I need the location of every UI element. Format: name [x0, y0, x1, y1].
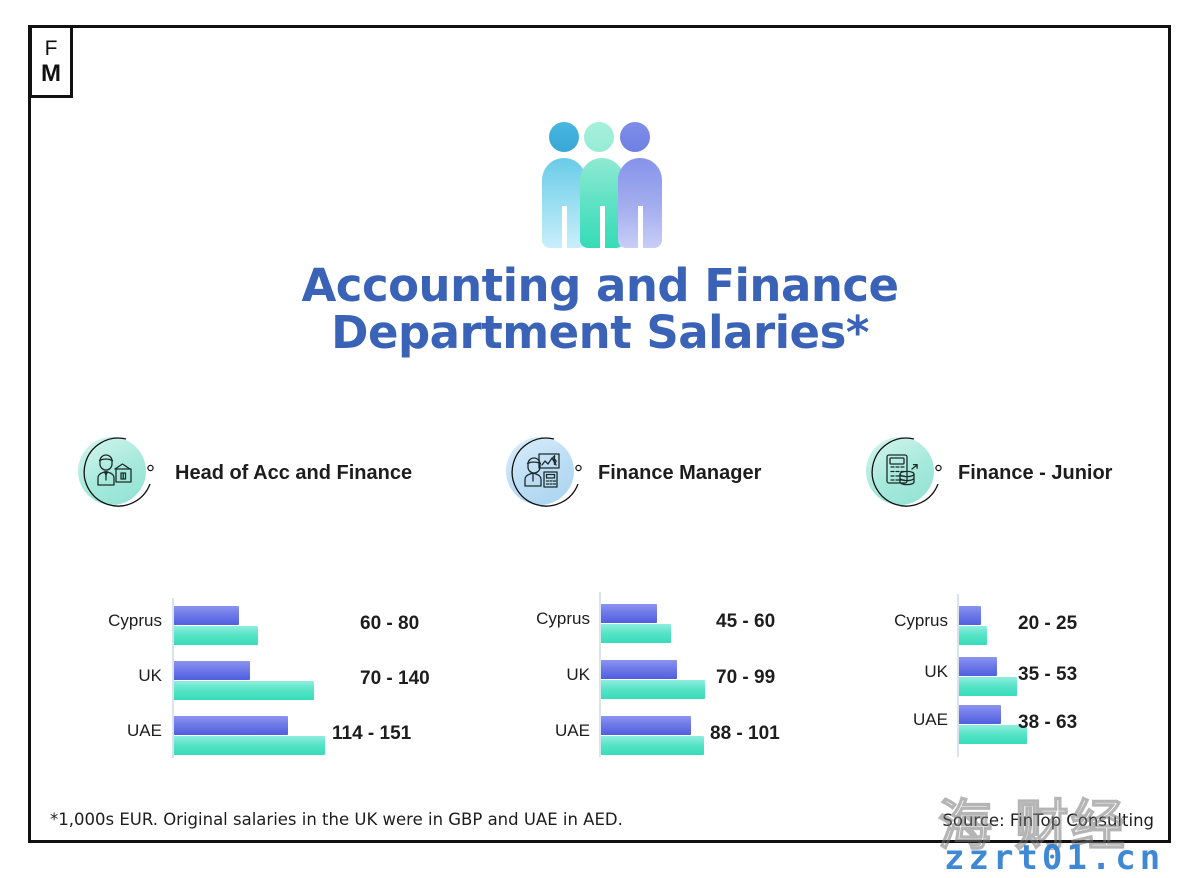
- person-head-right: [620, 122, 650, 152]
- logo-fm: F M: [29, 25, 73, 98]
- banker-person-icon: [94, 452, 134, 490]
- chart-row: UAE 38 - 63: [858, 701, 1148, 747]
- chart-row: Cyprus 20 - 25: [858, 602, 1148, 648]
- category-label: UK: [70, 666, 162, 686]
- source-label: Source: FinTop Consulting: [942, 811, 1154, 830]
- chart-head-of-acc-and-finance: Cyprus 60 - 80 UK 70 - 140 UAE: [70, 512, 460, 702]
- bar-min: [959, 705, 1001, 724]
- watermark-url: zzrt01.cn: [944, 838, 1164, 878]
- person-head-middle: [584, 122, 614, 152]
- category-label: UAE: [498, 721, 590, 741]
- bar-max: [174, 736, 325, 755]
- value-label: 38 - 63: [1018, 712, 1077, 734]
- value-label: 20 - 25: [1018, 613, 1077, 635]
- chart-finance-manager: Cyprus 45 - 60 UK 70 - 99 UAE: [498, 512, 828, 702]
- panel-title: Finance Manager: [598, 462, 761, 485]
- bar-min: [174, 716, 288, 735]
- chart-row: Cyprus 45 - 60: [498, 600, 828, 646]
- analyst-chart-icon: [522, 452, 562, 490]
- bar-min: [959, 657, 997, 676]
- logo-letter-m: M: [41, 62, 61, 86]
- bar-min: [601, 716, 691, 735]
- bar-max: [959, 626, 987, 645]
- panel-head-of-acc-and-finance: Head of Acc and Finance Cyprus 60 - 80 U…: [70, 432, 460, 702]
- chart-row: UK 70 - 140: [70, 657, 460, 703]
- category-label: UAE: [70, 721, 162, 741]
- bar-max: [959, 725, 1027, 744]
- category-label: UAE: [858, 710, 948, 730]
- person-body-right: [618, 158, 662, 248]
- bar-max: [174, 626, 258, 645]
- value-label: 88 - 101: [710, 723, 780, 745]
- value-label: 35 - 53: [1018, 664, 1077, 686]
- value-label: 60 - 80: [360, 613, 419, 635]
- value-label: 45 - 60: [716, 611, 775, 633]
- bar-min: [959, 606, 981, 625]
- value-label: 114 - 151: [332, 723, 411, 745]
- calculator-coins-icon: [882, 452, 922, 490]
- panel-title: Head of Acc and Finance: [175, 462, 412, 485]
- person-head-left: [549, 122, 579, 152]
- panel-finance-manager: Finance Manager Cyprus 45 - 60 UK 70 - 9…: [498, 432, 828, 702]
- chart-row: UK 35 - 53: [858, 653, 1148, 699]
- bar-min: [174, 661, 250, 680]
- category-label: Cyprus: [858, 611, 948, 631]
- three-people-icon: [540, 122, 664, 248]
- category-label: UK: [858, 662, 948, 682]
- page-title: Accounting and Finance Department Salari…: [0, 262, 1200, 356]
- bar-max: [601, 624, 671, 643]
- panel-title: Finance - Junior: [958, 462, 1112, 485]
- panel-finance-junior: Finance - Junior Cyprus 20 - 25 UK 35 - …: [858, 432, 1148, 702]
- bar-min: [601, 660, 677, 679]
- chart-row: UK 70 - 99: [498, 656, 828, 702]
- bar-max: [959, 677, 1017, 696]
- chart-row: Cyprus 60 - 80: [70, 602, 460, 648]
- category-label: Cyprus: [70, 611, 162, 631]
- footnote: *1,000s EUR. Original salaries in the UK…: [50, 810, 623, 829]
- panel-header: Finance - Junior: [858, 432, 1148, 512]
- panel-header: Finance Manager: [498, 432, 828, 512]
- infographic-canvas: F M Accounting and Finance Department Sa…: [0, 0, 1200, 878]
- chart-row: UAE 114 - 151: [70, 712, 460, 758]
- chart-row: UAE 88 - 101: [498, 712, 828, 758]
- page-title-line1: Accounting and Finance: [301, 259, 898, 312]
- category-label: Cyprus: [498, 609, 590, 629]
- panel-header: Head of Acc and Finance: [70, 432, 460, 512]
- bar-max: [601, 736, 704, 755]
- category-label: UK: [498, 665, 590, 685]
- bar-min: [174, 606, 239, 625]
- value-label: 70 - 140: [360, 668, 430, 690]
- logo-letter-f: F: [45, 38, 58, 59]
- page-title-line2: Department Salaries*: [0, 309, 1200, 356]
- bar-min: [601, 604, 657, 623]
- value-label: 70 - 99: [716, 667, 775, 689]
- chart-finance-junior: Cyprus 20 - 25 UK 35 - 53 UAE: [858, 512, 1148, 702]
- bar-max: [174, 681, 314, 700]
- bar-max: [601, 680, 705, 699]
